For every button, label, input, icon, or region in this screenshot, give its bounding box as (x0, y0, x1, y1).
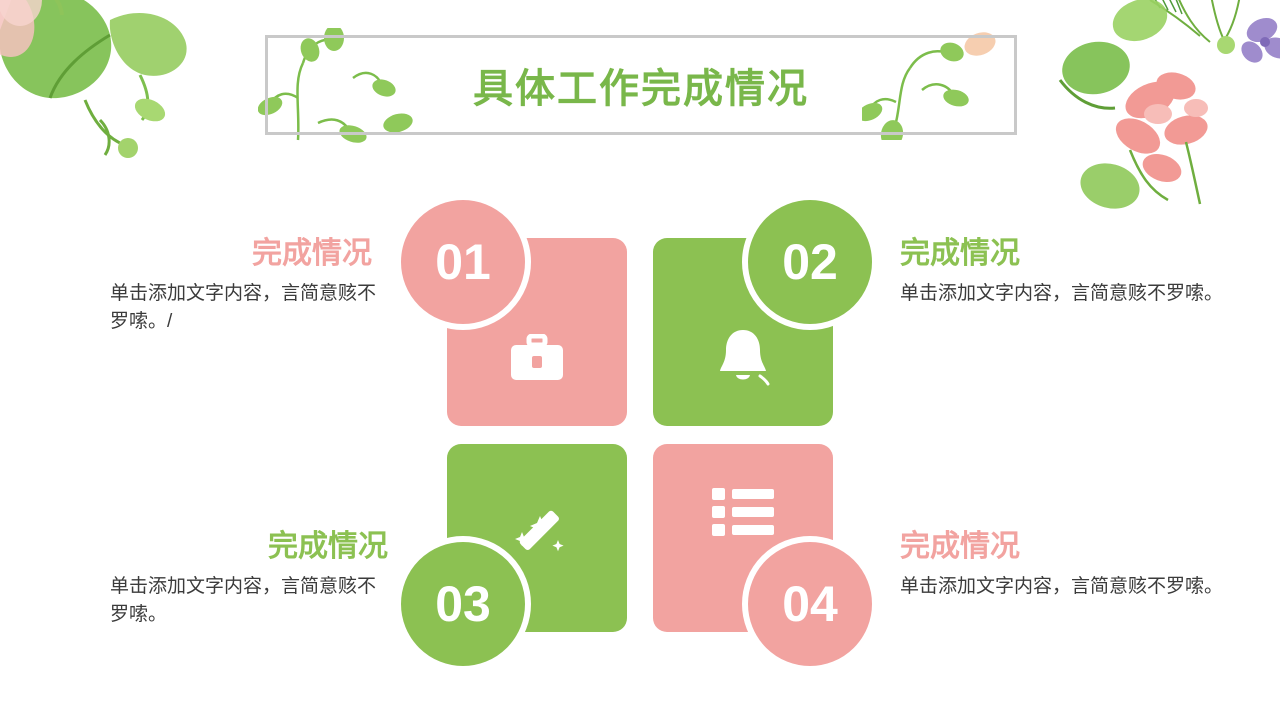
body-02: 单击添加文字内容，言简意赅不罗嗦。 (900, 280, 1230, 308)
number-circle-03[interactable]: 03 (395, 536, 531, 672)
decorative-leaves-top-left (0, 0, 250, 200)
number-circle-01[interactable]: 01 (395, 194, 531, 330)
page-title: 具体工作完成情况 (265, 35, 1017, 135)
text-block-01: 完成情况 单击添加文字内容，言简意赅不罗嗦。/ (110, 237, 382, 335)
heading-02: 完成情况 (900, 237, 1230, 270)
heading-04: 完成情况 (900, 530, 1240, 563)
slide-canvas: 具体工作完成情况 (0, 0, 1280, 720)
number-circle-04[interactable]: 04 (742, 536, 878, 672)
list-icon (712, 486, 774, 538)
heading-03: 完成情况 (110, 530, 388, 563)
body-04: 单击添加文字内容，言简意赅不罗嗦。 (900, 573, 1240, 601)
heading-01: 完成情况 (110, 237, 382, 270)
body-03: 单击添加文字内容，言简意赅不罗嗦。 (110, 573, 388, 628)
bell-icon (716, 328, 770, 386)
briefcase-icon (509, 334, 565, 382)
magic-wand-icon (504, 496, 570, 562)
text-block-04: 完成情况 单击添加文字内容，言简意赅不罗嗦。 (900, 530, 1240, 601)
number-circle-02[interactable]: 02 (742, 194, 878, 330)
text-block-03: 完成情况 单击添加文字内容，言简意赅不罗嗦。 (110, 530, 388, 628)
decorative-flowers-top-right (1000, 0, 1280, 220)
body-01: 单击添加文字内容，言简意赅不罗嗦。/ (110, 280, 382, 335)
text-block-02: 完成情况 单击添加文字内容，言简意赅不罗嗦。 (900, 237, 1230, 308)
